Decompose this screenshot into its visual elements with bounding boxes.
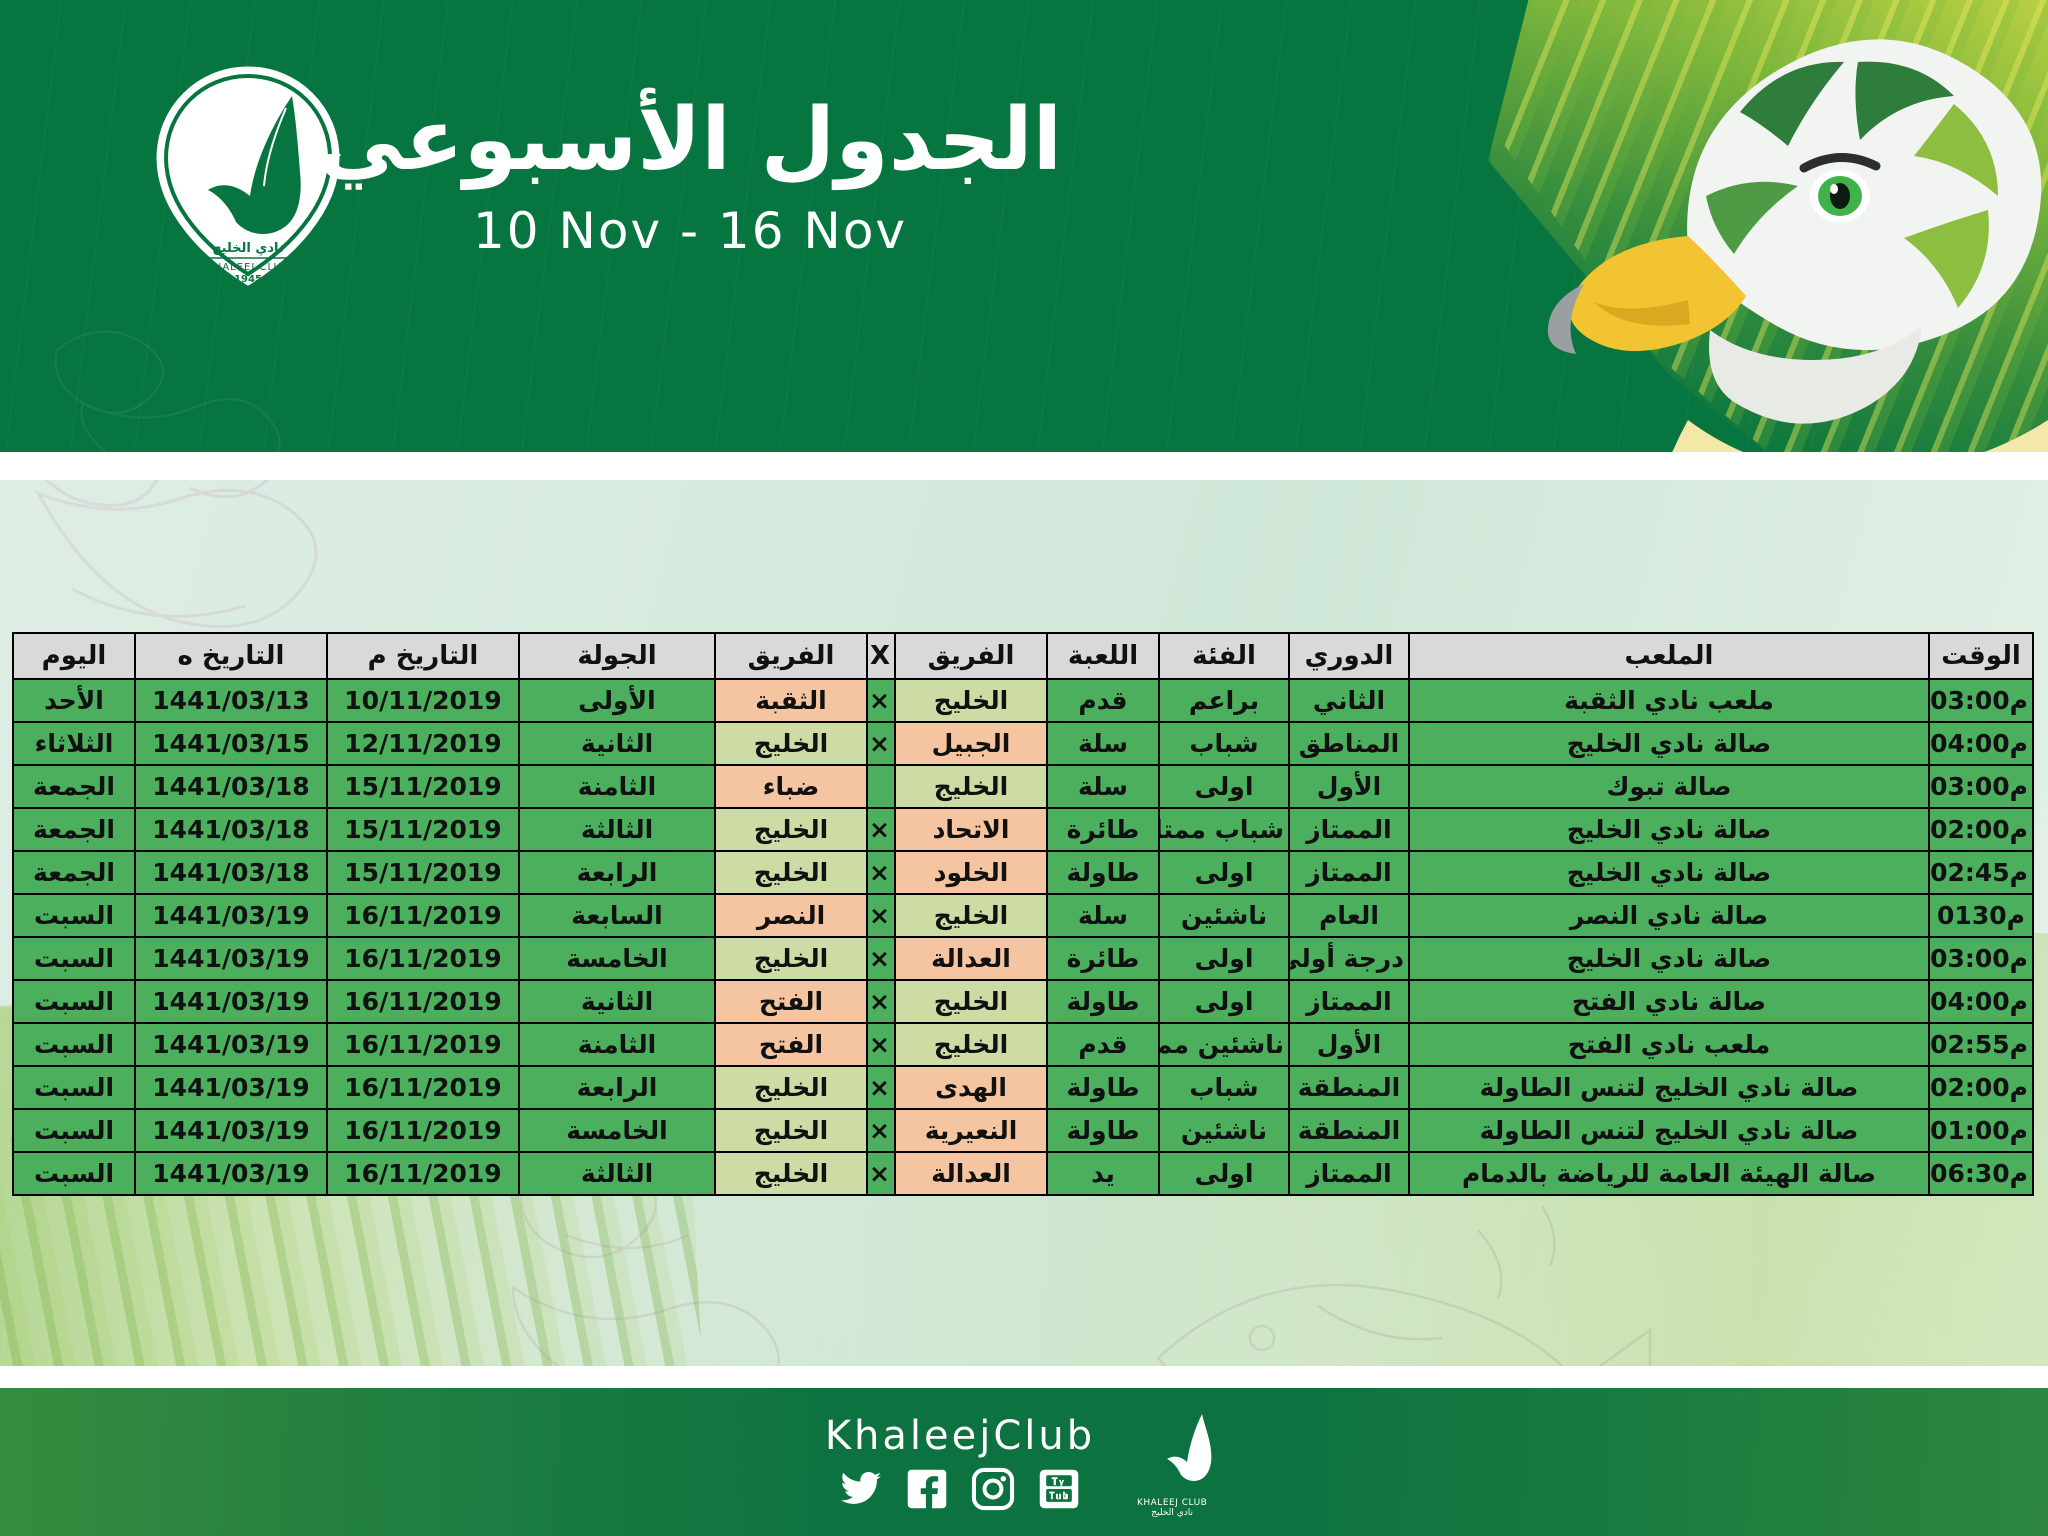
svg-text:KHALEEJ CLUB: KHALEEJ CLUB [206,262,290,273]
cell-date-hijri: 1441/03/18 [135,765,327,808]
table-row: م03:00ملعب نادي الثقبةالثانيبراعمقدمالخل… [13,679,2033,722]
cell-round: الثالثة [519,1152,715,1195]
table-row: م04:00صالة نادي الخليجالمناطقشبابسلةالجب… [13,722,2033,765]
cell-league: العام [1289,894,1409,937]
cell-round: الثالثة [519,808,715,851]
cell-category: ناشئين [1159,894,1289,937]
cell-league: الممتاز [1289,1152,1409,1195]
youtube-icon[interactable] [1037,1467,1081,1511]
footer-logo-caption-ar: نادي الخليج [1151,1508,1193,1518]
cell-league: المنطقة [1289,1066,1409,1109]
eagle-head-illustration [1388,0,2048,452]
cell-round: الأولى [519,679,715,722]
cell-team-a: الخليج [895,894,1047,937]
cell-round: الرابعة [519,1066,715,1109]
cell-day: الجمعة [13,851,135,894]
cell-day: الأحد [13,679,135,722]
cell-sport: طاولة [1047,1109,1159,1152]
cell-sport: قدم [1047,1023,1159,1066]
footer-brand-block: KhaleejClub [825,1413,1095,1511]
cell-team-b: الفتح [715,1023,867,1066]
cell-team-a: العدالة [895,1152,1047,1195]
cell-sport: طائرة [1047,937,1159,980]
cell-date-gregorian: 10/11/2019 [327,679,519,722]
cell-league: الأول [1289,765,1409,808]
social-links-row [839,1467,1081,1511]
column-header-team-a: الفريق [895,633,1047,679]
cell-league: الممتاز [1289,980,1409,1023]
cell-category: براعم [1159,679,1289,722]
cell-team-b: الخليج [715,937,867,980]
cell-team-a: الخليج [895,1023,1047,1066]
cell-category: اولى [1159,851,1289,894]
cell-category: ناشئين ممتاز [1159,1023,1289,1066]
column-header-vs: X [867,633,895,679]
cell-vs: × [867,679,895,722]
cell-sport: قدم [1047,679,1159,722]
cell-team-a: الاتحاد [895,808,1047,851]
cell-vs: × [867,894,895,937]
cell-date-gregorian: 15/11/2019 [327,765,519,808]
schedule-table: الوقت الملعب الدوري الفئة اللعبة الفريق … [12,632,2034,1196]
cell-category: شباب ممتاز [1159,808,1289,851]
cell-date-hijri: 1441/03/19 [135,1066,327,1109]
cell-vs: × [867,851,895,894]
footer-band: KhaleejClub [0,1388,2048,1536]
cell-day: الجمعة [13,808,135,851]
cell-venue: ملعب نادي الثقبة [1409,679,1929,722]
cell-team-a: الجبيل [895,722,1047,765]
table-row: م02:45صالة نادي الخليجالممتازاولىطاولةال… [13,851,2033,894]
column-header-venue: الملعب [1409,633,1929,679]
cell-category: شباب [1159,722,1289,765]
cell-team-a: الخلود [895,851,1047,894]
cell-sport: يد [1047,1152,1159,1195]
cell-date-gregorian: 16/11/2019 [327,1066,519,1109]
column-header-sport: اللعبة [1047,633,1159,679]
cell-team-b: الخليج [715,1109,867,1152]
cell-time: م02:00 [1929,808,2033,851]
cell-sport: طائرة [1047,808,1159,851]
cell-league: الأول [1289,1023,1409,1066]
cell-date-gregorian: 15/11/2019 [327,808,519,851]
cell-date-gregorian: 16/11/2019 [327,980,519,1023]
cell-date-gregorian: 12/11/2019 [327,722,519,765]
cell-category: اولى [1159,980,1289,1023]
cell-venue: صالة نادي الخليج [1409,937,1929,980]
eagle-mascot [1388,0,2048,452]
cell-category: اولى [1159,765,1289,808]
cell-vs: × [867,1023,895,1066]
cell-category: شباب [1159,1066,1289,1109]
cell-date-hijri: 1441/03/19 [135,937,327,980]
cell-vs: × [867,980,895,1023]
cell-round: الثانية [519,980,715,1023]
cell-team-b: الخليج [715,1066,867,1109]
cell-date-hijri: 1441/03/19 [135,980,327,1023]
table-row: م04:00صالة نادي الفتحالممتازاولىطاولةالخ… [13,980,2033,1023]
cell-round: الرابعة [519,851,715,894]
column-header-team-b: الفريق [715,633,867,679]
cell-time: م06:30 [1929,1152,2033,1195]
cell-team-a: العدالة [895,937,1047,980]
eagle-ghost-outline-icon [20,300,360,452]
column-header-day: اليوم [13,633,135,679]
cell-venue: صالة نادي الخليج [1409,851,1929,894]
cell-team-a: الخليج [895,980,1047,1023]
cell-team-b: الخليج [715,1152,867,1195]
cell-vs: × [867,1109,895,1152]
cell-venue: صالة نادي الفتح [1409,980,1929,1023]
weekly-schedule-poster: نادي الخليج KHALEEJ CLUB 1945 الجدول الأ… [0,0,2048,1536]
cell-team-b: الثقبة [715,679,867,722]
cell-sport: طاولة [1047,980,1159,1023]
table-row: م02:00صالة نادي الخليجالممتازشباب ممتازط… [13,808,2033,851]
cell-day: السبت [13,980,135,1023]
cell-date-gregorian: 16/11/2019 [327,1023,519,1066]
cell-category: اولى [1159,937,1289,980]
cell-day: السبت [13,937,135,980]
cell-team-a: النعيرية [895,1109,1047,1152]
header-divider-strip [0,452,2048,480]
cell-vs: × [867,937,895,980]
cell-venue: صالة نادي النصر [1409,894,1929,937]
table-row: م03:00صالة تبوكالأولاولىسلةالخليجضباءالث… [13,765,2033,808]
cell-venue: صالة نادي الخليج لتنس الطاولة [1409,1066,1929,1109]
cell-time: م03:00 [1929,679,2033,722]
cell-day: السبت [13,1066,135,1109]
cell-sport: سلة [1047,722,1159,765]
cell-vs: × [867,1066,895,1109]
cell-date-gregorian: 16/11/2019 [327,937,519,980]
cell-round: الخامسة [519,1109,715,1152]
cell-date-gregorian: 16/11/2019 [327,894,519,937]
cell-date-gregorian: 16/11/2019 [327,1109,519,1152]
cell-league: درجة أولى [1289,937,1409,980]
cell-venue: صالة نادي الخليج [1409,808,1929,851]
cell-round: السابعة [519,894,715,937]
footer-club-logo-icon [1149,1406,1223,1498]
cell-sport: طاولة [1047,851,1159,894]
cell-time: م03:00 [1929,765,2033,808]
cell-date-hijri: 1441/03/19 [135,1152,327,1195]
cell-venue: ملعب نادي الفتح [1409,1023,1929,1066]
cell-category: اولى [1159,1152,1289,1195]
cell-day: السبت [13,1023,135,1066]
cell-date-gregorian: 15/11/2019 [327,851,519,894]
cell-time: م0130 [1929,894,2033,937]
cell-round: الثامنة [519,765,715,808]
cell-vs: × [867,722,895,765]
table-row: م03:00صالة نادي الخليجدرجة أولىاولىطائرة… [13,937,2033,980]
column-header-round: الجولة [519,633,715,679]
cell-time: م02:55 [1929,1023,2033,1066]
cell-league: الممتاز [1289,808,1409,851]
cell-day: الجمعة [13,765,135,808]
cell-date-gregorian: 16/11/2019 [327,1152,519,1195]
cell-day: السبت [13,1109,135,1152]
cell-team-b: الفتح [715,980,867,1023]
cell-date-hijri: 1441/03/18 [135,808,327,851]
footer-logo-block: KHALEEJ CLUB نادي الخليج [1121,1406,1223,1518]
cell-sport: سلة [1047,894,1159,937]
date-range-subtitle: 10 Nov - 16 Nov [0,202,1380,260]
facebook-icon[interactable] [905,1467,949,1511]
cell-venue: صالة نادي الخليج [1409,722,1929,765]
cell-round: الخامسة [519,937,715,980]
cell-time: م02:45 [1929,851,2033,894]
cell-time: م01:00 [1929,1109,2033,1152]
cell-league: الثاني [1289,679,1409,722]
column-header-league: الدوري [1289,633,1409,679]
cell-league: المناطق [1289,722,1409,765]
cell-team-a: الخليج [895,679,1047,722]
cell-date-hijri: 1441/03/19 [135,894,327,937]
title-block: الجدول الأسبوعي 10 Nov - 16 Nov [0,92,1380,260]
column-header-date-hijri: التاريخ ه [135,633,327,679]
cell-venue: صالة نادي الخليج لتنس الطاولة [1409,1109,1929,1152]
cell-team-b: الخليج [715,808,867,851]
table-row: م02:00صالة نادي الخليج لتنس الطاولةالمنط… [13,1066,2033,1109]
table-row: م02:55ملعب نادي الفتحالأولناشئين ممتازقد… [13,1023,2033,1066]
cell-round: الثامنة [519,1023,715,1066]
table-row: م06:30صالة الهيئة العامة للرياضة بالدمام… [13,1152,2033,1195]
header-band: نادي الخليج KHALEEJ CLUB 1945 الجدول الأ… [0,0,2048,452]
cell-time: م02:00 [1929,1066,2033,1109]
table-header-row: الوقت الملعب الدوري الفئة اللعبة الفريق … [13,633,2033,679]
cell-team-b: الخليج [715,851,867,894]
table-row: م0130صالة نادي النصرالعامناشئينسلةالخليج… [13,894,2033,937]
cell-team-b: النصر [715,894,867,937]
footer-brand-name: KhaleejClub [825,1413,1095,1459]
cell-date-hijri: 1441/03/19 [135,1109,327,1152]
schedule-table-wrapper: الوقت الملعب الدوري الفئة اللعبة الفريق … [14,632,2034,1196]
svg-text:1945: 1945 [234,274,262,285]
cell-vs: × [867,1152,895,1195]
cell-vs: × [867,808,895,851]
cell-date-hijri: 1441/03/15 [135,722,327,765]
footer-divider-strip [0,1366,2048,1388]
cell-team-b: الخليج [715,722,867,765]
cell-team-a: الهدى [895,1066,1047,1109]
cell-day: السبت [13,894,135,937]
cell-category: ناشئين [1159,1109,1289,1152]
cell-venue: صالة تبوك [1409,765,1929,808]
table-row: م01:00صالة نادي الخليج لتنس الطاولةالمنط… [13,1109,2033,1152]
twitter-icon[interactable] [839,1467,883,1511]
cell-date-hijri: 1441/03/13 [135,679,327,722]
cell-time: م04:00 [1929,980,2033,1023]
cell-team-b: ضباء [715,765,867,808]
instagram-icon[interactable] [971,1467,1015,1511]
cell-time: م03:00 [1929,937,2033,980]
cell-day: السبت [13,1152,135,1195]
cell-date-hijri: 1441/03/18 [135,851,327,894]
cell-time: م04:00 [1929,722,2033,765]
cell-team-a: الخليج [895,765,1047,808]
cell-league: المنطقة [1289,1109,1409,1152]
column-header-time: الوقت [1929,633,2033,679]
cell-round: الثانية [519,722,715,765]
schedule-table-body: م03:00ملعب نادي الثقبةالثانيبراعمقدمالخل… [13,679,2033,1195]
footer-logo-caption-en: KHALEEJ CLUB [1137,1498,1207,1508]
cell-sport: سلة [1047,765,1159,808]
cell-date-hijri: 1441/03/19 [135,1023,327,1066]
column-header-date-gregorian: التاريخ م [327,633,519,679]
cell-day: الثلاثاء [13,722,135,765]
cell-vs [867,765,895,808]
page-title: الجدول الأسبوعي [0,92,1380,188]
column-header-category: الفئة [1159,633,1289,679]
cell-league: الممتاز [1289,851,1409,894]
cell-sport: طاولة [1047,1066,1159,1109]
cell-venue: صالة الهيئة العامة للرياضة بالدمام [1409,1152,1929,1195]
